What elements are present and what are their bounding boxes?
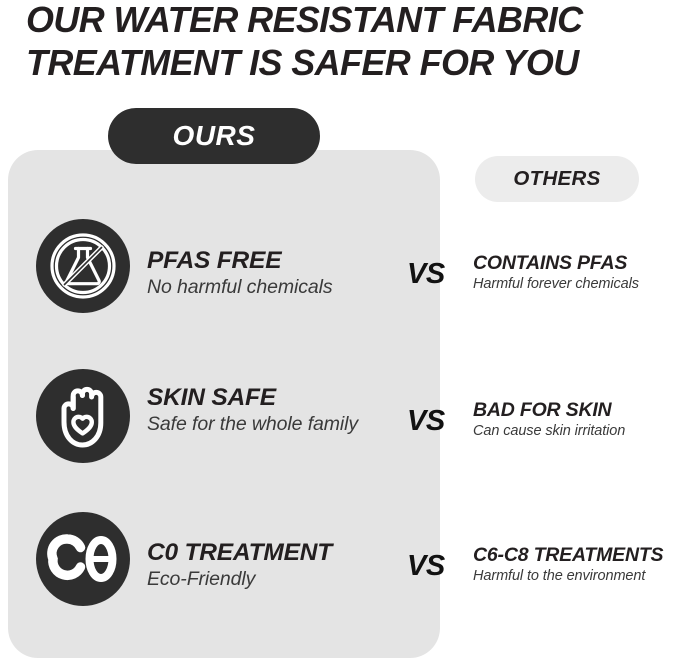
vs-label: VS — [407, 550, 445, 583]
ours-item-title: PFAS FREE — [147, 248, 397, 274]
no-chemicals-flask-icon — [36, 219, 130, 313]
others-item-title: BAD FOR SKIN — [473, 400, 679, 420]
others-item-text-skin: BAD FOR SKIN Can cause skin irritation — [473, 400, 679, 440]
others-badge: OTHERS — [475, 156, 639, 202]
ours-item-title: C0 TREATMENT — [147, 540, 397, 566]
others-item-title: CONTAINS PFAS — [473, 253, 679, 273]
others-item-subtitle: Harmful forever chemicals — [473, 277, 679, 293]
others-item-text-pfas: CONTAINS PFAS Harmful forever chemicals — [473, 253, 679, 293]
ours-item-text-skin: SKIN SAFE Safe for the whole family — [147, 385, 397, 436]
c0-text-icon — [36, 512, 130, 606]
headline-line-1: OUR WATER RESISTANT FABRIC — [26, 0, 649, 40]
page-title: OUR WATER RESISTANT FABRIC TREATMENT IS … — [26, 0, 649, 83]
ours-item-title: SKIN SAFE — [147, 385, 397, 411]
ours-item-text-pfas: PFAS FREE No harmful chemicals — [147, 248, 397, 299]
comparison-row-c0: C0 TREATMENT Eco-Friendly VS C6-C8 TREAT… — [0, 512, 679, 632]
comparison-row-skin: SKIN SAFE Safe for the whole family VS B… — [0, 365, 679, 485]
ours-item-subtitle: Eco-Friendly — [147, 569, 397, 591]
others-item-subtitle: Can cause skin irritation — [473, 424, 679, 440]
others-item-subtitle: Harmful to the environment — [473, 569, 679, 585]
others-item-text-c0: C6-C8 TREATMENTS Harmful to the environm… — [473, 545, 679, 585]
comparison-row-pfas: PFAS FREE No harmful chemicals VS CONTAI… — [0, 215, 679, 335]
others-item-title: C6-C8 TREATMENTS — [473, 545, 679, 565]
ours-item-subtitle: No harmful chemicals — [147, 277, 397, 299]
hand-heart-icon — [36, 369, 130, 463]
ours-badge: OURS — [108, 108, 320, 164]
vs-label: VS — [407, 405, 445, 438]
vs-label: VS — [407, 258, 445, 291]
ours-item-subtitle: Safe for the whole family — [147, 414, 397, 436]
others-badge-label: OTHERS — [513, 167, 600, 191]
ours-item-text-c0: C0 TREATMENT Eco-Friendly — [147, 540, 397, 591]
headline-line-2: TREATMENT IS SAFER FOR YOU — [26, 43, 649, 83]
ours-badge-label: OURS — [173, 120, 256, 152]
